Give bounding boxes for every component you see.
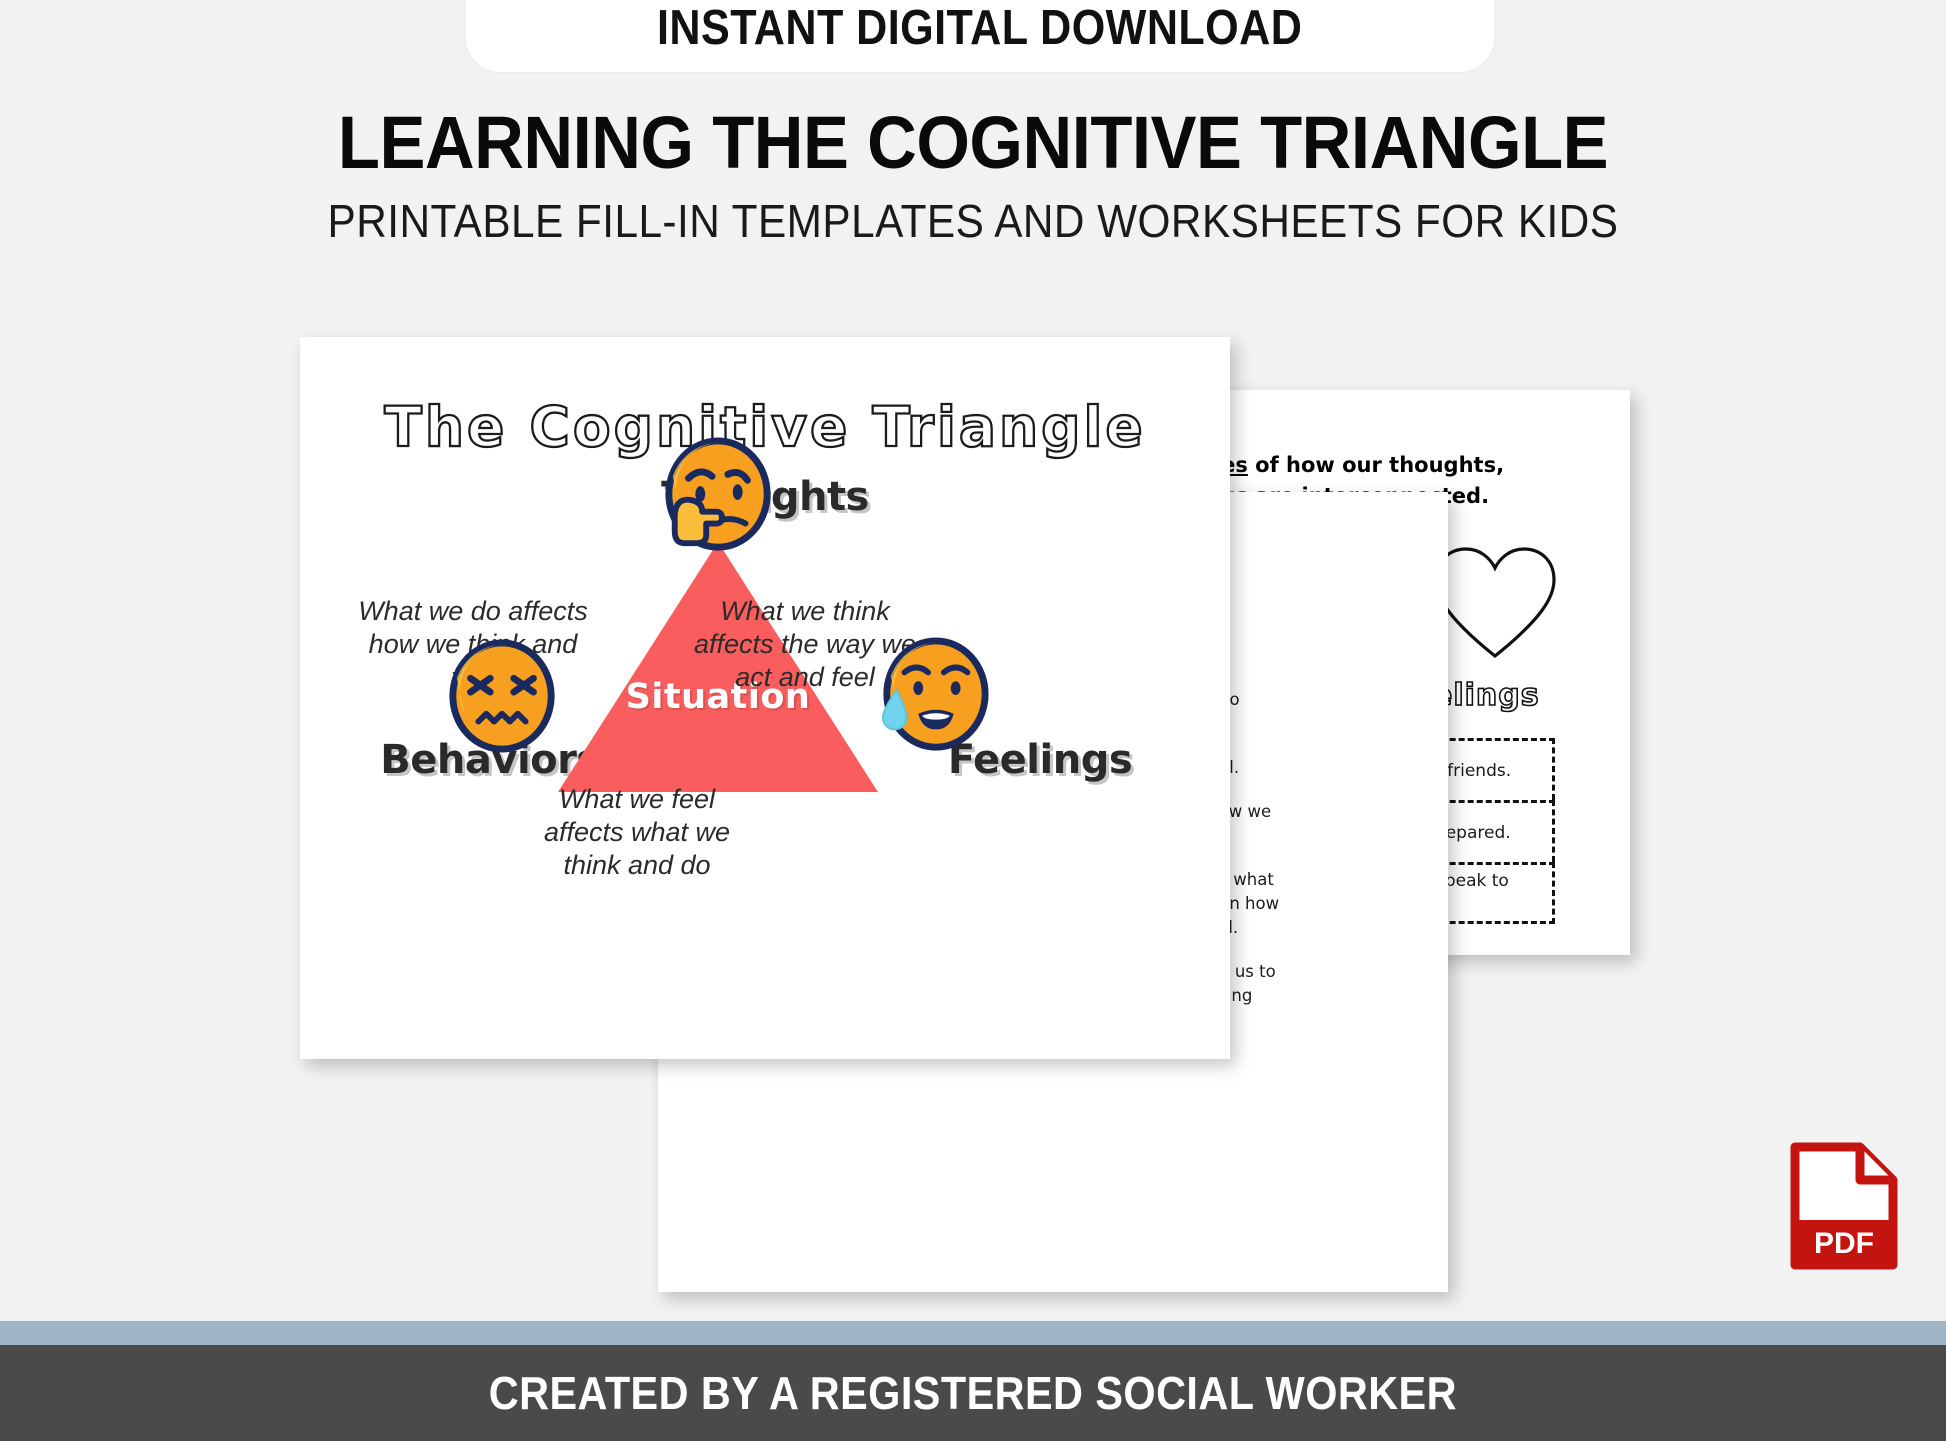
heart-icon	[1430, 544, 1560, 662]
footer-bar: CREATED BY A REGISTERED SOCIAL WORKER	[0, 1345, 1946, 1441]
footer-label: CREATED BY A REGISTERED SOCIAL WORKER	[489, 1366, 1457, 1420]
page-title: LEARNING THE COGNITIVE TRIANGLE	[68, 104, 1878, 182]
page-subtitle: PRINTABLE FILL-IN TEMPLATES AND WORKSHEE…	[78, 196, 1868, 246]
cognitive-triangle-worksheet-card[interactable]: The Cognitive Triangle Thoughts Behavior…	[300, 337, 1230, 1059]
footer-accent-strip	[0, 1321, 1946, 1345]
side-text-bottom: What we feel affects what we think and d…	[522, 783, 752, 882]
anxious-face-with-sweat-emoji	[875, 637, 993, 755]
product-listing-image: INSTANT DIGITAL DOWNLOAD LEARNING THE CO…	[0, 0, 1946, 1441]
instant-download-label: INSTANT DIGITAL DOWNLOAD	[657, 0, 1302, 56]
thinking-face-emoji	[659, 437, 777, 555]
examples-heading-rest: of how our thoughts,	[1248, 453, 1504, 477]
confounded-face-emoji	[443, 637, 561, 755]
pdf-file-icon: PDF	[1790, 1142, 1898, 1270]
pdf-badge-label: PDF	[1814, 1227, 1874, 1260]
headline-block: LEARNING THE COGNITIVE TRIANGLE PRINTABL…	[0, 104, 1946, 246]
instant-download-banner: INSTANT DIGITAL DOWNLOAD	[466, 0, 1494, 72]
